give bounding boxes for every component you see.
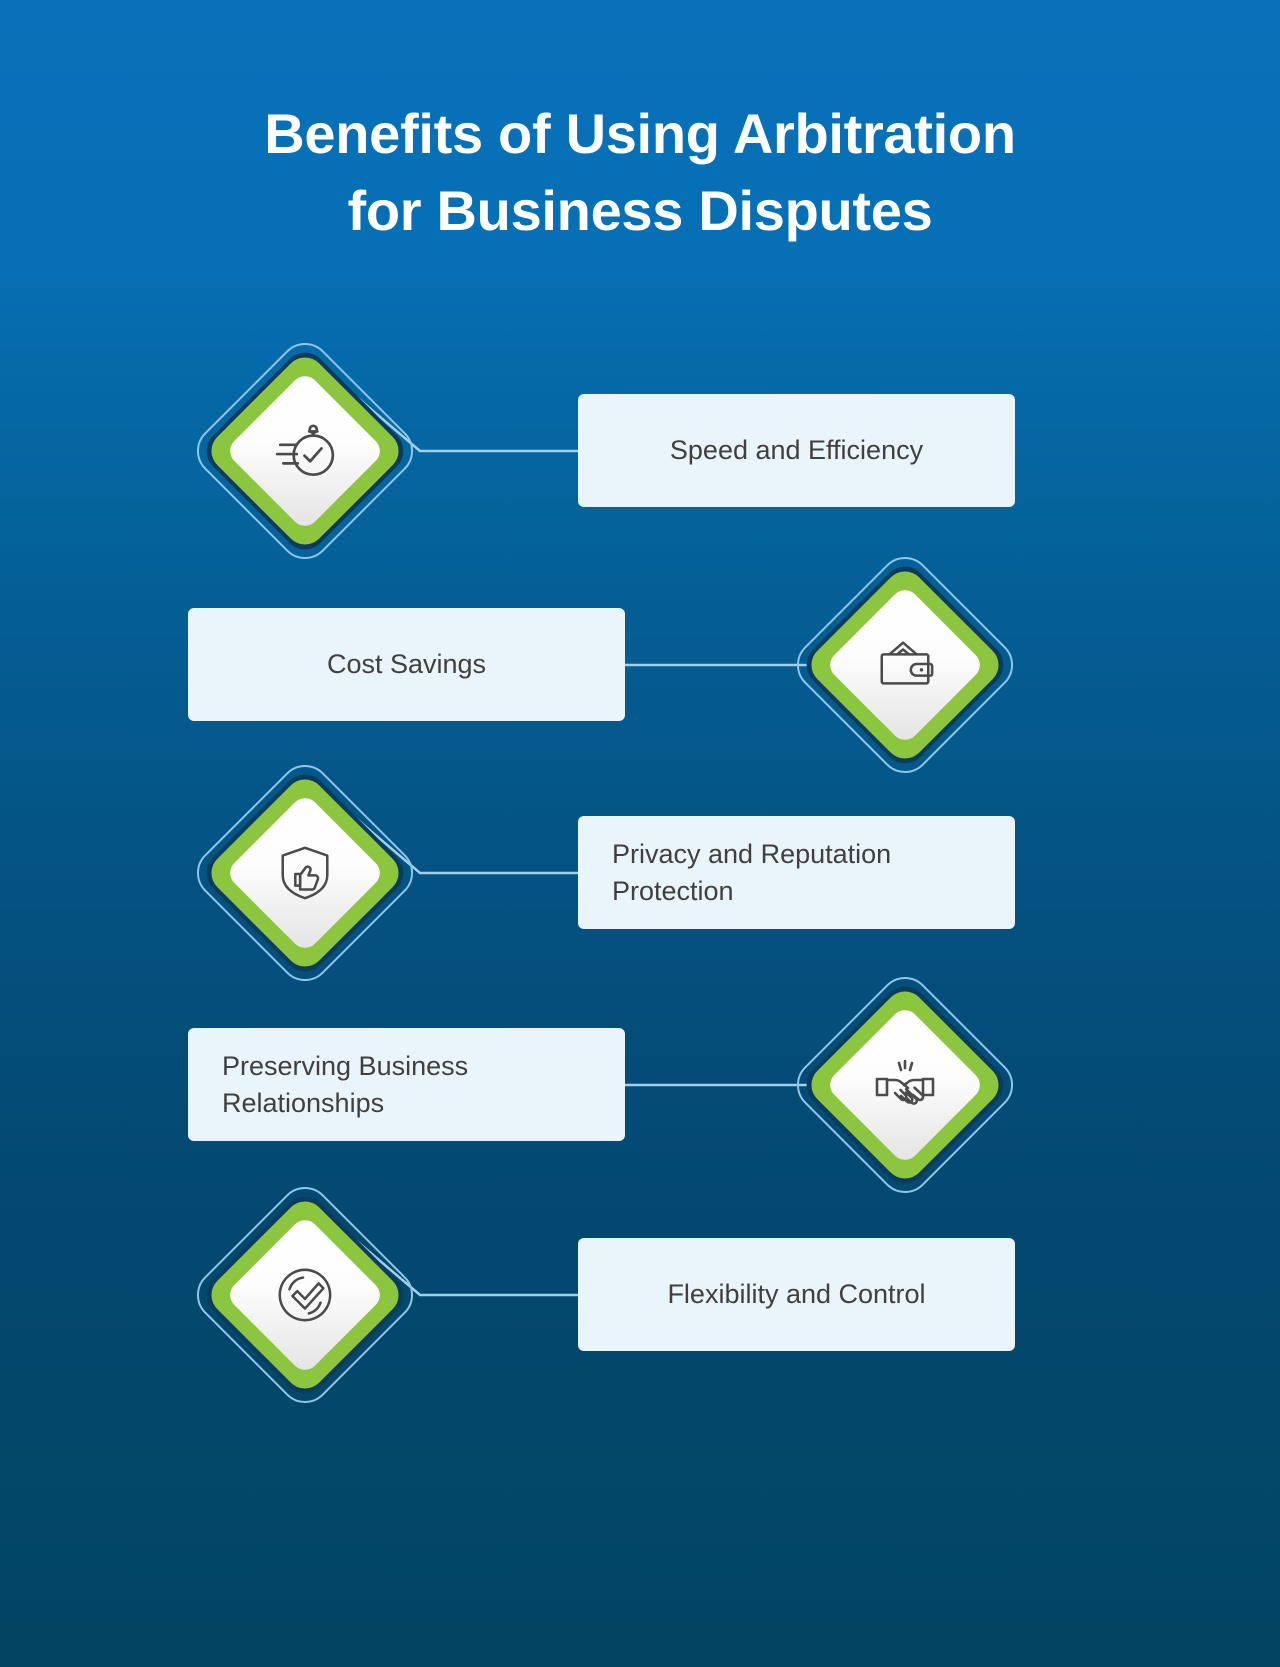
page-title-line-1: Benefits of Using Arbitration [0,95,1280,172]
benefit-label-box-2[interactable]: Cost Savings [188,608,625,721]
wallet-money-icon [868,628,942,702]
benefit-row-3: Privacy and Reputation Protection [0,753,1280,993]
handshake-icon [868,1048,942,1122]
benefit-label-2: Cost Savings [327,646,486,682]
page-title-line-2: for Business Disputes [0,172,1280,249]
benefit-icon-badge-2 [785,545,1025,785]
benefit-icon-badge-5 [185,1175,425,1415]
check-circle-icon [268,1258,342,1332]
benefit-label-box-1[interactable]: Speed and Efficiency [578,394,1015,507]
benefit-label-3: Privacy and Reputation Protection [612,836,981,908]
benefit-label-4: Preserving Business Relationships [222,1048,591,1120]
benefit-label-5: Flexibility and Control [667,1276,925,1312]
benefit-icon-badge-3 [185,753,425,993]
benefit-label-box-3[interactable]: Privacy and Reputation Protection [578,816,1015,929]
shield-thumbs-up-icon [268,836,342,910]
benefit-label-box-4[interactable]: Preserving Business Relationships [188,1028,625,1141]
benefit-icon-badge-1 [185,331,425,571]
benefit-row-2: Cost Savings [0,545,1280,785]
benefit-label-box-5[interactable]: Flexibility and Control [578,1238,1015,1351]
benefit-row-5: Flexibility and Control [0,1175,1280,1415]
benefit-row-4: Preserving Business Relationships [0,965,1280,1205]
page-title: Benefits of Using Arbitration for Busine… [0,95,1280,250]
benefit-label-1: Speed and Efficiency [670,432,923,468]
stopwatch-speed-icon [268,414,342,488]
benefit-icon-badge-4 [785,965,1025,1205]
benefit-row-1: Speed and Efficiency [0,331,1280,571]
